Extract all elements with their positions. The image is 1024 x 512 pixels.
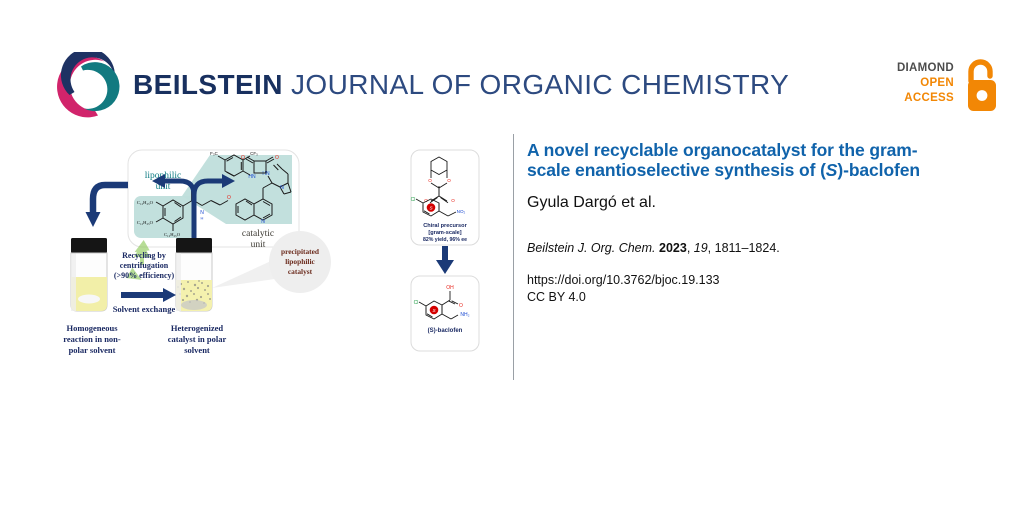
precursor-caption-line3: 82% yield, 96% ee (423, 237, 467, 243)
lipophilic-chain-label-2: C₁₂H₂₅O (137, 220, 154, 225)
article-doi-license: https://doi.org/10.3762/bjoc.19.133 CC B… (527, 272, 947, 306)
amine-label: NH₂ (460, 312, 469, 318)
recycling-label-line3: (>90% efficiency) (114, 271, 175, 280)
open-access-words: DIAMOND OPEN ACCESS (872, 61, 954, 106)
squaramide-oxygen-right-label: O (275, 155, 279, 161)
ether-oxygen-label: O (227, 195, 231, 201)
carbonyl-oxygen-right: O (451, 198, 455, 203)
left-vial-caption-line3: polar solvent (69, 345, 116, 355)
curved-down-arrow-icon (86, 185, 129, 227)
citation-volume: 19 (694, 241, 708, 255)
right-vial-caption-line2: catalyst in polar (168, 334, 227, 344)
graphical-abstract-figure: C₁₂H₂₅O C₁₂H₂₅O C₁₂H₂₅O O N H O N (30, 128, 508, 386)
citation-journal: Beilstein J. Org. Chem. (527, 241, 656, 255)
down-arrow-icon (436, 246, 454, 274)
chloro-label-baclofen: Cl (414, 300, 419, 306)
open-access-lock-icon (962, 58, 1002, 114)
left-vial-caption-line1: Homogeneous (67, 323, 119, 333)
catalytic-unit-label-line1: catalytic (242, 229, 274, 239)
article-authors: Gyula Dargó et al. (527, 194, 947, 212)
citation-year: 2023 (659, 241, 687, 255)
article-license: CC BY 4.0 (527, 289, 947, 306)
dioxane-oxygen-left: O (428, 178, 432, 183)
cf3-label-left: F₃C (210, 151, 218, 156)
recycling-label-line1: Recycling by (122, 251, 166, 260)
right-vial-caption-line1: Heterogenized (171, 323, 224, 333)
lipophilic-chain-label-1: C₁₂H₂₅O (137, 200, 154, 205)
precursor-caption-line2: [gram-scale] (428, 230, 461, 236)
article-title-stereodescriptor: S (826, 160, 838, 180)
catalytic-unit-label-line2: unit (251, 240, 266, 250)
graphical-abstract-svg: C₁₂H₂₅O C₁₂H₂₅O C₁₂H₂₅O O N H O N (30, 128, 508, 386)
catalyst-structure-card: C₁₂H₂₅O C₁₂H₂₅O C₁₂H₂₅O O N H O N (128, 150, 299, 250)
vial-heterogenized (176, 238, 212, 311)
baclofen-caption: (S)-baclofen (428, 328, 463, 334)
article-citation: Beilstein J. Org. Chem. 2023, 19, 1811–1… (527, 240, 947, 256)
callout-line2: lipophilic (285, 257, 315, 266)
oa-diamond-label: DIAMOND (872, 61, 954, 76)
right-vial-caption-line3: solvent (184, 345, 210, 355)
vertical-divider (513, 134, 514, 380)
baclofen-carbonyl-oxygen: O (459, 303, 463, 309)
vial-homogeneous (71, 238, 107, 311)
article-info-panel: A novel recyclable organocatalyst for th… (527, 140, 947, 306)
amide-nh-label: H (201, 216, 204, 221)
solvent-exchange-label: Solvent exchange (113, 304, 176, 314)
right-arrow-icon-solvent-exchange (121, 288, 176, 302)
recycling-label-line2: centrifugation (120, 261, 169, 270)
baclofen-product-card: S OH O NH₂ Cl (S)-baclofen (411, 276, 479, 351)
journal-title: BEILSTEIN JOURNAL OF ORGANIC CHEMISTRY (133, 69, 789, 101)
oa-open-label: OPEN (872, 76, 954, 91)
article-title: A novel recyclable organocatalyst for th… (527, 140, 947, 180)
precursor-caption-line1: Chiral precursor (423, 223, 467, 229)
quinuclidine-nitrogen-label: N (280, 185, 284, 191)
hydroxyl-label: OH (446, 285, 454, 291)
journal-title-regular: JOURNAL OF ORGANIC CHEMISTRY (291, 69, 789, 100)
nitro-label: NO₂ (457, 209, 466, 214)
masthead: BEILSTEIN JOURNAL OF ORGANIC CHEMISTRY D… (0, 0, 1024, 140)
citation-pages: 1811–1824. (715, 241, 780, 255)
cf3-label-right: CF₃ (250, 151, 258, 156)
graphical-abstract-page: BEILSTEIN JOURNAL OF ORGANIC CHEMISTRY D… (0, 0, 1024, 512)
article-doi[interactable]: https://doi.org/10.3762/bjoc.19.133 (527, 272, 947, 289)
lipophilic-chain-label-3: C₁₂H₂₅O (164, 232, 181, 237)
article-title-part2: )-baclofen (837, 160, 920, 180)
quinoline-nitrogen-label: N (261, 219, 265, 225)
left-vial-caption-line2: reaction in non- (63, 334, 121, 344)
journal-title-bold: BEILSTEIN (133, 69, 283, 100)
open-access-badge: DIAMOND OPEN ACCESS (872, 57, 1000, 119)
callout-line3: catalyst (288, 267, 313, 276)
oa-access-label: ACCESS (872, 91, 954, 106)
beilstein-logo-icon (57, 52, 125, 120)
dioxane-oxygen-right: O (447, 178, 451, 183)
chloro-label-precursor: Cl (411, 197, 416, 203)
chiral-precursor-card: O O O O S Cl NO₂ Chiral precu (411, 150, 479, 245)
callout-line1: precipitated (281, 247, 320, 256)
